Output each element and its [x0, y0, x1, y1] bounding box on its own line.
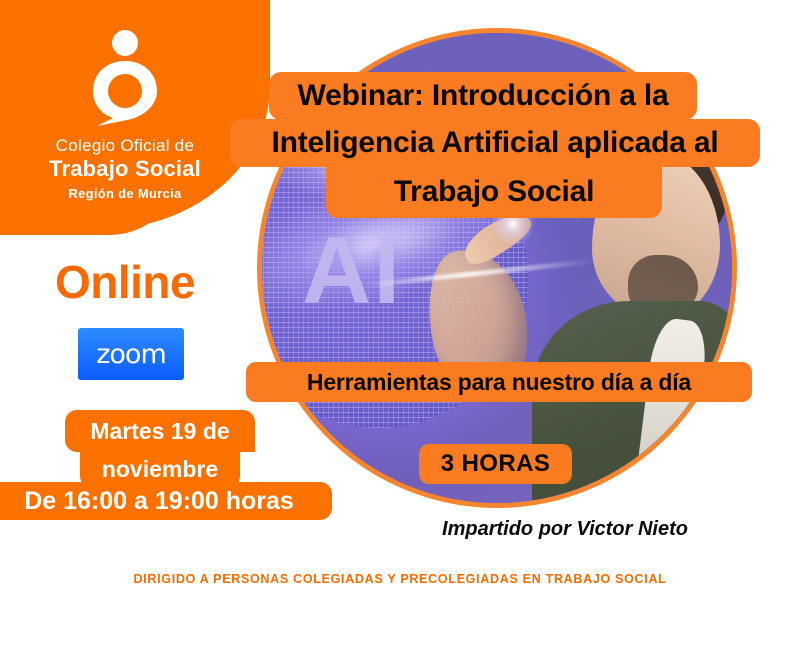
title-line-2: Inteligencia Artificial aplicada al	[230, 119, 760, 167]
title-line-3: Trabajo Social	[326, 166, 662, 218]
audience-note: DIRIGIDO A PERSONAS COLEGIADAS Y PRECOLE…	[0, 572, 800, 586]
title-line-1: Webinar: Introducción a la	[269, 72, 697, 120]
logo-line-1: Colegio Oficial de	[0, 136, 250, 156]
webinar-poster: AI Colegio Oficial de Trabajo Social Reg…	[0, 0, 800, 650]
person-speech-bubble-icon	[87, 28, 163, 128]
date-line-1: Martes 19 de	[65, 410, 255, 452]
duration-badge: 3 HORAS	[419, 444, 572, 484]
logo-line-3: Región de Murcia	[0, 186, 250, 201]
ai-overlay-text: AI	[302, 223, 402, 319]
zoom-logo: zoom	[78, 328, 184, 380]
speaker-credit: Impartido por Victor Nieto	[400, 518, 730, 541]
zoom-wordmark: zoom	[96, 339, 166, 370]
brand-logo: Colegio Oficial de Trabajo Social Región…	[0, 28, 250, 201]
time-range: De 16:00 a 19:00 horas	[0, 482, 332, 520]
tools-subtitle: Herramientas para nuestro día a día	[246, 362, 752, 402]
modality-label: Online	[0, 255, 250, 309]
logo-line-2: Trabajo Social	[0, 156, 250, 182]
